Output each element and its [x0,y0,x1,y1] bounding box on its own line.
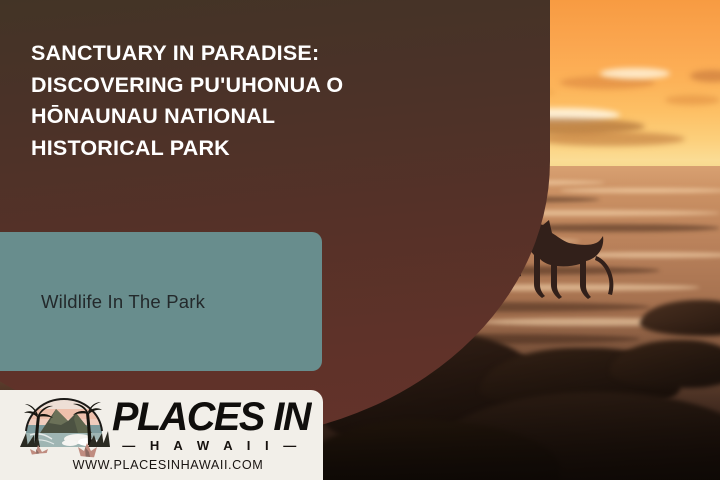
brand-subwordmark: — H A W A I I — [112,438,312,453]
page-title: SANCTUARY IN PARADISE: DISCOVERING PU'UH… [31,38,381,164]
brand-logo-card[interactable]: PLACES IN — H A W A I I — WWW.PLACESINHA… [0,390,323,480]
cloud [600,68,670,79]
brand-url: WWW.PLACESINHAWAII.COM [28,458,308,472]
section-label-card: Wildlife In The Park [0,232,322,371]
cloud [665,95,720,105]
social-share-card: SANCTUARY IN PARADISE: DISCOVERING PU'UH… [0,0,720,480]
hawaii-island-badge-icon [16,395,112,463]
cloud [690,70,720,82]
brand-wordmark-text: PLACES IN [112,395,312,439]
brand-logo-inner: PLACES IN — H A W A I I — WWW.PLACESINHA… [0,390,323,480]
brand-wordmark-icon: PLACES IN [112,393,312,441]
wave-crest [560,188,720,193]
cloud [535,132,685,146]
section-label-text: Wildlife In The Park [0,291,205,313]
